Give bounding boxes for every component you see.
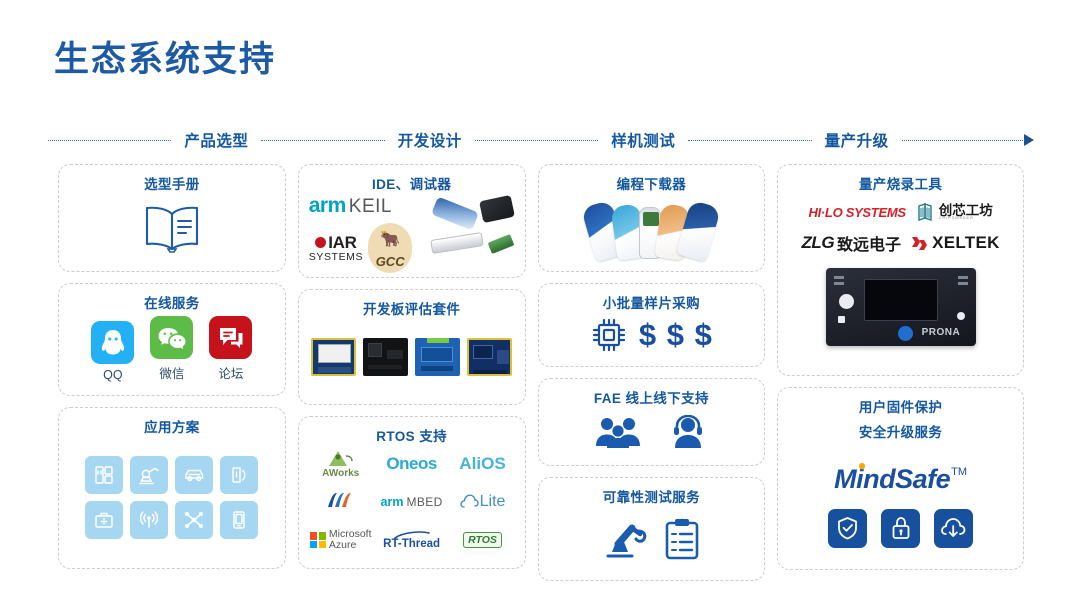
logo-rt-thread: RT-Thread — [383, 531, 440, 551]
shield-check-icon[interactable] — [828, 509, 867, 548]
network-node-icon[interactable] — [175, 501, 213, 539]
card-title: FAE 线上线下支持 — [594, 390, 709, 408]
medical-kit-icon[interactable] — [85, 501, 123, 539]
logo-mbed-text: MBED — [406, 495, 442, 509]
qq-icon — [91, 321, 134, 364]
device-prona-programmer: PRONA — [826, 268, 976, 346]
card-sample-purchase[interactable]: 小批量样片采购 $ $ $ — [538, 283, 766, 367]
logo-lite: Lite — [460, 493, 506, 511]
column-development-design: IDE、调试器 arm KEIL — [298, 164, 526, 582]
card-title: 量产烧录工具 — [859, 176, 942, 194]
home-appliance-icon[interactable] — [85, 456, 123, 494]
logo-arm-keil: arm KEIL — [309, 194, 392, 218]
logo-xeltek: XELTEK — [911, 233, 1000, 253]
logo-alios: AliOS — [459, 454, 505, 474]
service-forum[interactable]: 论坛 — [209, 316, 252, 382]
card-application-solutions[interactable]: 应用方案 — [58, 407, 286, 569]
card-body — [547, 408, 757, 455]
arrow-right-icon — [1024, 134, 1034, 146]
card-body — [67, 194, 277, 261]
column-mass-production: 量产烧录工具 HI·LO SYSTEMS 创芯工坊 — [777, 164, 1024, 582]
brand-mindsafe: MindSafe TM — [834, 464, 967, 495]
card-title: 小批量样片采购 — [603, 295, 700, 313]
connector-dots — [475, 140, 598, 141]
logo-xeltek-text: XELTEK — [932, 233, 1000, 253]
logo-gcc: 🐂 GCC — [368, 223, 412, 273]
card-online-service[interactable]: 在线服务 QQ — [58, 283, 286, 396]
device-brand-label: PRONA — [922, 327, 961, 338]
logo-oneos: Oneos — [386, 454, 436, 474]
logo-harmony-waves — [324, 489, 358, 516]
card-title: 应用方案 — [144, 419, 200, 437]
cloud-icon — [460, 494, 479, 510]
connector-dots — [261, 140, 384, 141]
card-body: HI·LO SYSTEMS 创芯工坊 CHIPSMAKER — [786, 194, 1015, 365]
logo-lite-text: Lite — [480, 493, 506, 511]
card-rtos-support[interactable]: RTOS 支持 AWorks Oneos AliOS — [298, 416, 526, 569]
logo-iar-text: IAR — [328, 234, 356, 251]
wechat-icon — [150, 316, 193, 359]
card-title-group: 用户固件保护 安全升级服务 — [859, 399, 942, 442]
eval-board-2 — [363, 338, 408, 376]
card-body — [547, 507, 757, 570]
card-firmware-protection[interactable]: 用户固件保护 安全升级服务 MindSafe TM — [777, 387, 1024, 570]
card-title: 开发板评估套件 — [363, 301, 460, 319]
card-programmer-downloader[interactable]: 编程下载器 — [538, 164, 766, 272]
aworks-mark-icon — [326, 448, 356, 469]
card-mass-programming-tools[interactable]: 量产烧录工具 HI·LO SYSTEMS 创芯工坊 — [777, 164, 1024, 376]
connector-dots — [688, 140, 811, 141]
logo-aworks: AWorks — [322, 448, 359, 479]
brand-trademark: TM — [951, 466, 967, 478]
process-step-4[interactable]: 量产升级 — [812, 129, 902, 151]
process-flow-bar: 产品选型 开发设计 样机测试 量产升级 — [48, 128, 1034, 152]
headset-support-icon — [669, 415, 707, 449]
device-black-debugger — [479, 195, 515, 223]
card-body: AWorks Oneos AliOS arm — [307, 446, 517, 558]
cloud-download-icon[interactable] — [934, 509, 973, 548]
card-title-line-1: 用户固件保护 — [859, 399, 942, 417]
logo-zlg: ZLG 致远电子 — [802, 231, 902, 255]
logo-hilo-systems: HI·LO SYSTEMS — [809, 205, 906, 220]
wireless-signal-icon[interactable] — [130, 501, 168, 539]
process-step-1[interactable]: 产品选型 — [171, 129, 261, 151]
logo-iar-sub: SYSTEMS — [309, 252, 363, 263]
eval-board-4 — [467, 338, 512, 376]
card-title: IDE、调试器 — [372, 176, 451, 194]
service-qq[interactable]: QQ — [91, 321, 134, 382]
logo-arm-text: arm — [381, 495, 404, 509]
forum-icon — [209, 316, 252, 359]
connector-dots — [902, 140, 1025, 141]
card-body: arm KEIL IAR SYSTEMS — [307, 194, 517, 273]
card-reliability-test[interactable]: 可靠性测试服务 — [538, 477, 766, 581]
robot-arm-icon[interactable] — [130, 456, 168, 494]
logo-keil-text: KEIL — [349, 196, 392, 218]
card-fae-support[interactable]: FAE 线上线下支持 — [538, 378, 766, 466]
chipsmaker-mark-icon — [916, 202, 936, 222]
card-title: 编程下载器 — [617, 176, 687, 194]
column-prototype-test: 编程下载器 小批量样片采购 — [538, 164, 766, 582]
card-body — [307, 319, 517, 394]
charging-pile-icon[interactable] — [220, 456, 258, 494]
logo-chipsmaker-text: 创芯工坊 — [939, 204, 993, 218]
connector-dots — [48, 140, 171, 141]
column-product-selection: 选型手册 在线服务 — [58, 164, 286, 582]
eval-board-3 — [415, 338, 460, 376]
open-book-icon — [141, 203, 203, 253]
card-body: $ $ $ — [547, 313, 757, 356]
service-label: 微信 — [159, 363, 184, 382]
logo-chipsmaker-sub: CHIPSMAKER — [939, 217, 993, 221]
logo-rt-thread-text: RT-Thread — [383, 539, 440, 551]
card-title: 选型手册 — [144, 176, 200, 194]
padlock-icon[interactable] — [881, 509, 920, 548]
device-blue-debugger — [431, 196, 479, 230]
logo-gcc-text: GCC — [376, 254, 405, 269]
logo-zlg-cn-text: 致远电子 — [837, 231, 901, 255]
microsoft-logo-icon — [310, 532, 326, 548]
process-step-3[interactable]: 样机测试 — [598, 129, 688, 151]
card-title: 可靠性测试服务 — [603, 489, 700, 507]
card-body: MindSafe TM — [786, 442, 1015, 559]
xeltek-mark-icon — [911, 235, 928, 252]
mobile-device-icon[interactable] — [220, 501, 258, 539]
checklist-clipboard-icon — [663, 517, 701, 561]
cards-grid: 选型手册 在线服务 — [58, 164, 1024, 582]
chip-icon — [590, 316, 628, 354]
card-selection-manual[interactable]: 选型手册 — [58, 164, 286, 272]
robot-arm-test-icon — [602, 518, 650, 560]
page-title: 生态系统支持 — [54, 42, 276, 77]
price-indicator: $ $ $ — [639, 317, 713, 353]
card-ide-debugger[interactable]: IDE、调试器 arm KEIL — [298, 164, 526, 278]
logo-aworks-text: AWorks — [322, 469, 359, 479]
card-body — [67, 437, 277, 558]
logo-zlg-text: ZLG — [802, 233, 835, 253]
eval-board-1 — [311, 338, 356, 376]
brand-mindsafe-text: MindSafe — [834, 464, 950, 494]
card-title-line-2: 安全升级服务 — [859, 424, 942, 442]
logo-freertos: RTOS — [463, 532, 502, 548]
gnu-mascot-icon: 🐂 — [380, 229, 400, 249]
device-green-usb-dongle — [487, 234, 514, 254]
service-wechat[interactable]: 微信 — [150, 316, 193, 382]
service-label: QQ — [103, 368, 122, 382]
logo-arm-mbed: arm MBED — [381, 495, 443, 509]
card-title: RTOS 支持 — [376, 428, 447, 446]
logo-azure-text: Azure — [329, 540, 372, 551]
device-white-usb-debugger — [430, 232, 484, 254]
people-group-icon — [595, 415, 649, 449]
card-dev-board-kit[interactable]: 开发板评估套件 — [298, 289, 526, 405]
automotive-icon[interactable] — [175, 456, 213, 494]
logo-chipsmaker: 创芯工坊 CHIPSMAKER — [916, 202, 993, 222]
card-body — [547, 194, 757, 261]
card-title: 在线服务 — [144, 295, 200, 313]
logo-arm-text: arm — [309, 194, 346, 218]
card-body: QQ — [67, 313, 277, 385]
service-label: 论坛 — [218, 363, 243, 382]
iar-mark-icon — [315, 237, 326, 248]
logo-iar-systems: IAR SYSTEMS — [309, 234, 363, 263]
process-step-2[interactable]: 开发设计 — [385, 129, 475, 151]
logo-microsoft-azure: Microsoft Azure — [310, 529, 372, 551]
slide-root: 生态系统支持 产品选型 开发设计 样机测试 量产升级 选型手册 — [0, 0, 1080, 608]
